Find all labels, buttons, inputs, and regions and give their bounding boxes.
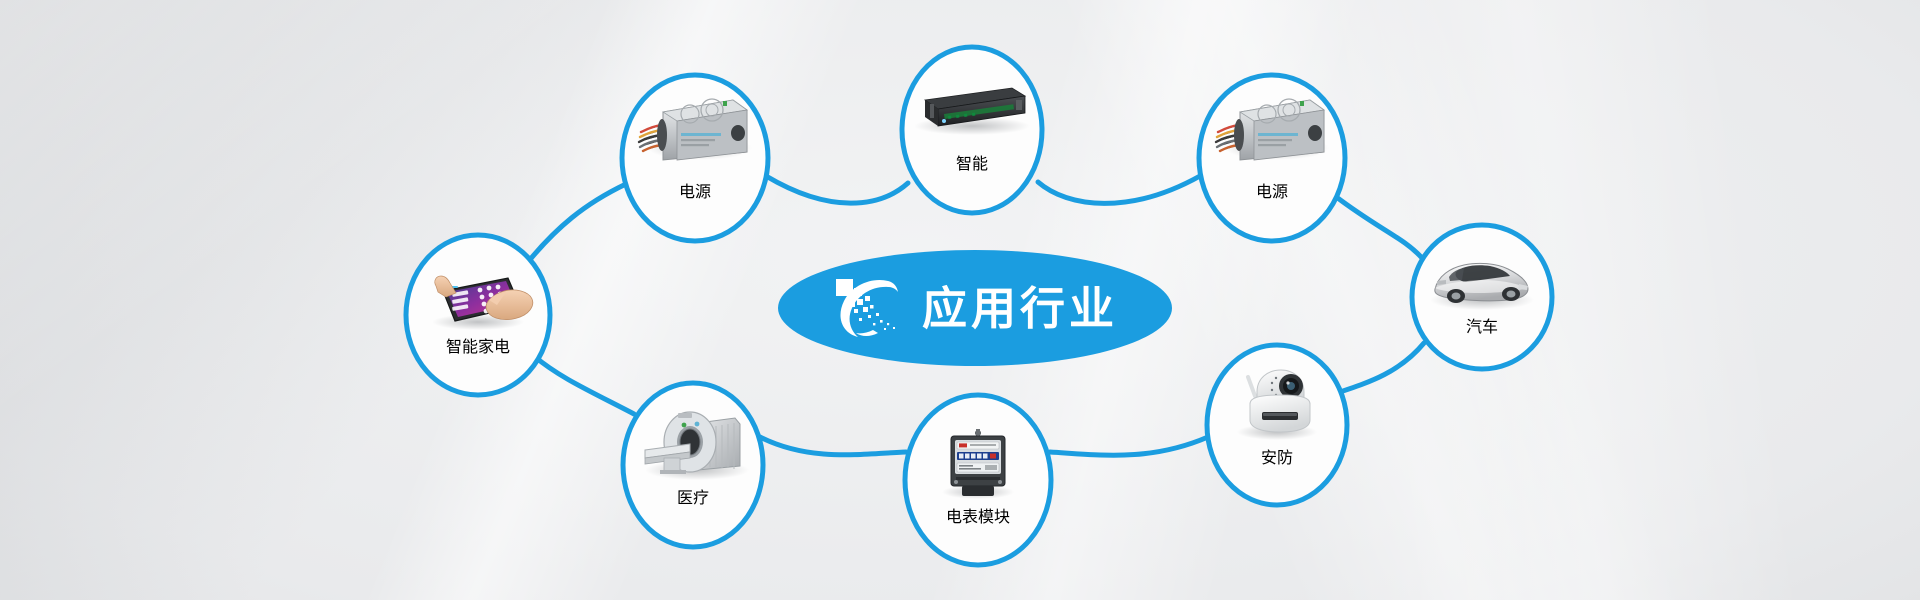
- node-label-smart-home-appliance[interactable]: 智能家电: [393, 333, 563, 357]
- orbit-pixel-swoosh-icon: [832, 275, 906, 341]
- node-label-security[interactable]: 安防: [1212, 444, 1342, 468]
- electric-meter-icon: [942, 429, 1014, 499]
- application-industry-banner: 电源 智能 电源 汽车 安防 电表模块 医疗 智能家电: [0, 0, 1920, 600]
- node-label-automotive[interactable]: 汽车: [1417, 313, 1547, 337]
- node-label-medical[interactable]: 医疗: [628, 484, 758, 508]
- node-label-smart[interactable]: 智能: [907, 150, 1037, 174]
- center-badge[interactable]: 应用行业: [778, 250, 1172, 366]
- node-label-meter-module[interactable]: 电表模块: [893, 503, 1063, 527]
- node-label-power-supply-left[interactable]: 电源: [630, 178, 760, 202]
- badge-title: 应用行业: [922, 286, 1118, 331]
- node-label-power-supply-right[interactable]: 电源: [1207, 178, 1337, 202]
